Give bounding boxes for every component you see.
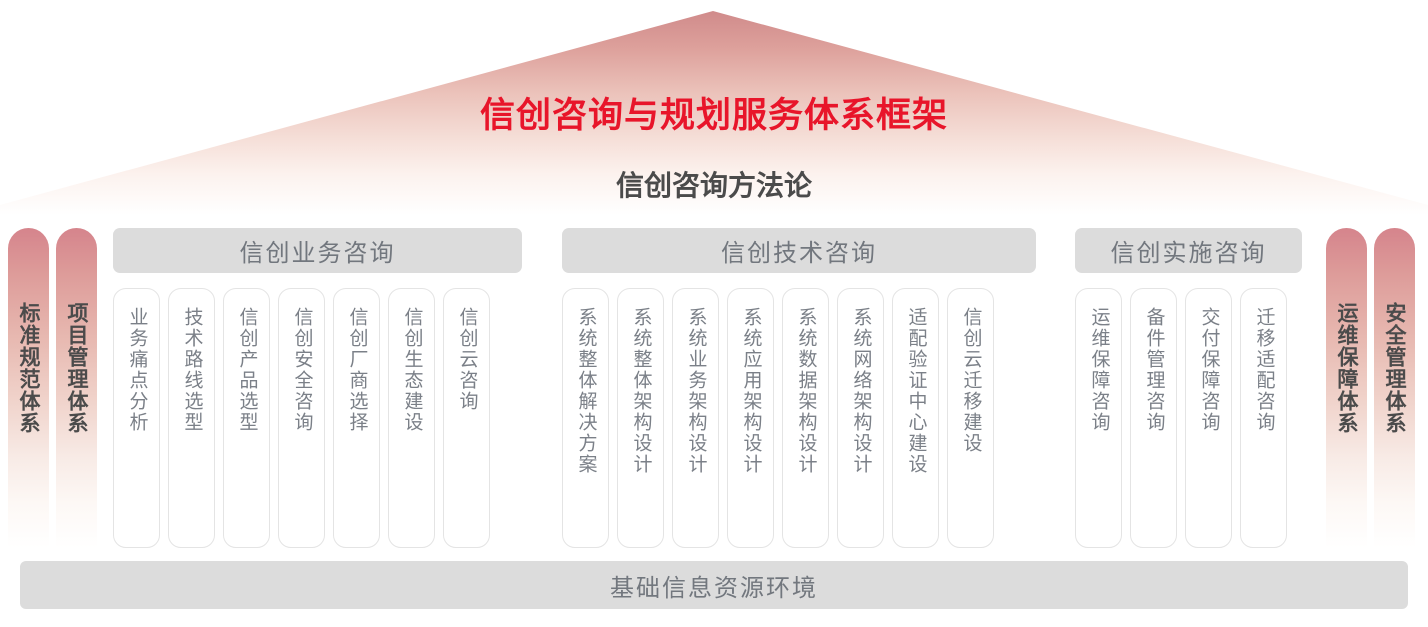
- group-header: 信创业务咨询: [113, 228, 522, 273]
- card-item[interactable]: 技术路线选型: [168, 288, 215, 548]
- card-label: 系统数据架构设计: [784, 307, 828, 475]
- card-label: 系统业务架构设计: [674, 307, 718, 475]
- pillar-project-management: 项目管理体系: [56, 228, 97, 548]
- card-item[interactable]: 信创云迁移建设: [947, 288, 994, 548]
- card-label: 信创厂商选择: [335, 307, 379, 433]
- card-label: 系统应用架构设计: [729, 307, 773, 475]
- card-item[interactable]: 系统网络架构设计: [837, 288, 884, 548]
- card-item[interactable]: 信创生态建设: [388, 288, 435, 548]
- pillar-security-management: 安全管理体系: [1374, 228, 1415, 548]
- card-item[interactable]: 系统数据架构设计: [782, 288, 829, 548]
- card-label: 适配验证中心建设: [894, 307, 938, 475]
- card-item[interactable]: 信创安全咨询: [278, 288, 325, 548]
- card-label: 业务痛点分析: [115, 307, 159, 433]
- card-label: 信创云咨询: [445, 307, 489, 412]
- card-item[interactable]: 信创厂商选择: [333, 288, 380, 548]
- diagram-canvas: 信创咨询与规划服务体系框架 信创咨询方法论 标准规范体系 项目管理体系 运维保障…: [0, 0, 1428, 627]
- group-header: 信创实施咨询: [1075, 228, 1302, 273]
- card-item[interactable]: 业务痛点分析: [113, 288, 160, 548]
- page-subtitle: 信创咨询方法论: [0, 170, 1428, 201]
- card-label: 交付保障咨询: [1187, 307, 1231, 433]
- pillar-standard-spec: 标准规范体系: [8, 228, 49, 548]
- foundation-bar: 基础信息资源环境: [20, 561, 1408, 609]
- card-item[interactable]: 运维保障咨询: [1075, 288, 1122, 548]
- card-label: 信创云迁移建设: [949, 307, 993, 454]
- card-item[interactable]: 系统整体解决方案: [562, 288, 609, 548]
- card-item[interactable]: 适配验证中心建设: [892, 288, 939, 548]
- card-label: 信创安全咨询: [280, 307, 324, 433]
- group-business-consulting: 信创业务咨询 业务痛点分析 技术路线选型 信创产品选型 信创安全咨询 信创厂商选…: [113, 228, 522, 273]
- card-item[interactable]: 系统整体架构设计: [617, 288, 664, 548]
- card-label: 技术路线选型: [170, 307, 214, 433]
- card-item[interactable]: 备件管理咨询: [1130, 288, 1177, 548]
- pillar-label: 运维保障体系: [1326, 302, 1367, 434]
- card-item[interactable]: 信创云咨询: [443, 288, 490, 548]
- card-label: 迁移适配咨询: [1242, 307, 1286, 433]
- card-label: 信创生态建设: [390, 307, 434, 433]
- group-implementation-consulting: 信创实施咨询 运维保障咨询 备件管理咨询 交付保障咨询 迁移适配咨询: [1075, 228, 1302, 273]
- card-item[interactable]: 迁移适配咨询: [1240, 288, 1287, 548]
- card-label: 备件管理咨询: [1132, 307, 1176, 433]
- group-header: 信创技术咨询: [562, 228, 1036, 273]
- group-card-list: 系统整体解决方案 系统整体架构设计 系统业务架构设计 系统应用架构设计 系统数据…: [562, 288, 994, 548]
- pillar-ops-support: 运维保障体系: [1326, 228, 1367, 548]
- card-label: 系统整体架构设计: [619, 307, 663, 475]
- card-item[interactable]: 信创产品选型: [223, 288, 270, 548]
- group-card-list: 运维保障咨询 备件管理咨询 交付保障咨询 迁移适配咨询: [1075, 288, 1287, 548]
- card-label: 系统整体解决方案: [564, 307, 608, 475]
- card-item[interactable]: 交付保障咨询: [1185, 288, 1232, 548]
- group-card-list: 业务痛点分析 技术路线选型 信创产品选型 信创安全咨询 信创厂商选择 信创生态建…: [113, 288, 490, 548]
- pillar-label: 项目管理体系: [56, 302, 97, 434]
- card-label: 信创产品选型: [225, 307, 269, 433]
- card-item[interactable]: 系统业务架构设计: [672, 288, 719, 548]
- card-label: 系统网络架构设计: [839, 307, 883, 475]
- card-label: 运维保障咨询: [1077, 307, 1121, 433]
- group-technical-consulting: 信创技术咨询 系统整体解决方案 系统整体架构设计 系统业务架构设计 系统应用架构…: [562, 228, 1036, 273]
- pillar-label: 标准规范体系: [8, 302, 49, 434]
- pillar-label: 安全管理体系: [1374, 302, 1415, 434]
- card-item[interactable]: 系统应用架构设计: [727, 288, 774, 548]
- page-title: 信创咨询与规划服务体系框架: [0, 96, 1428, 135]
